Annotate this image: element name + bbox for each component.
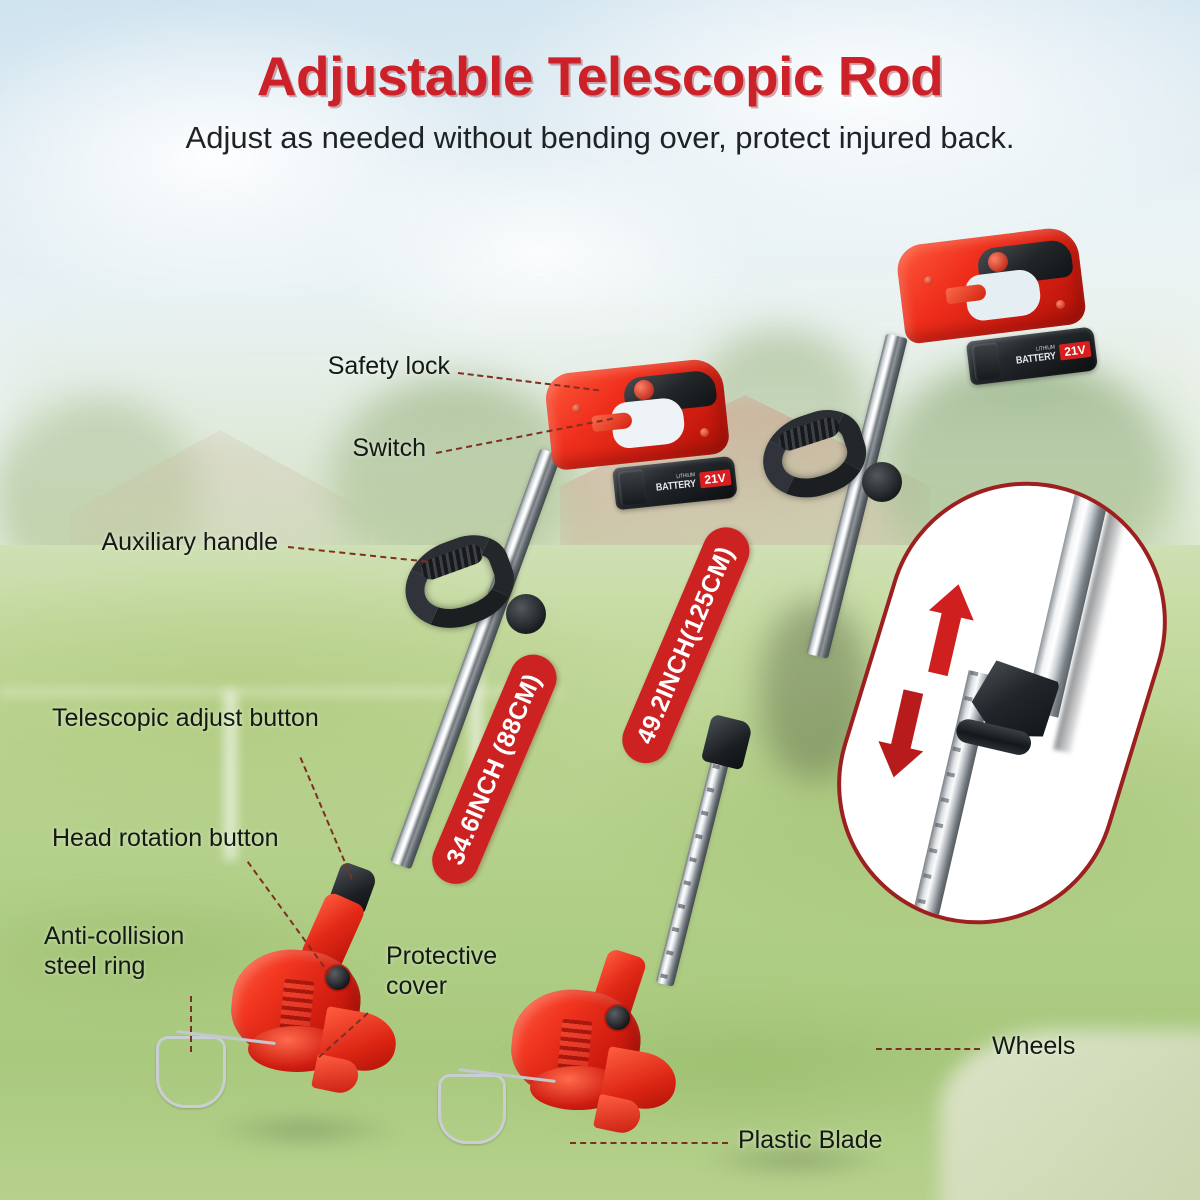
battery-label: LITHIUM BATTERY <box>1015 345 1057 366</box>
battery-label: LITHIUM BATTERY <box>655 473 697 493</box>
leader-wheels <box>876 1048 980 1050</box>
head-rotation-button[interactable] <box>326 966 350 990</box>
leader-plastic-blade <box>570 1142 728 1144</box>
callout-label-plastic-blade: Plastic Blade <box>738 1126 958 1156</box>
infographic-canvas: Adjustable Telescopic Rod Adjust as need… <box>0 0 1200 1200</box>
head-vent <box>557 1019 592 1072</box>
screw <box>572 404 581 413</box>
battery-voltage: 21V <box>699 469 732 488</box>
battery-rail <box>971 342 1001 381</box>
callout-label-auxiliary-handle: Auxiliary handle <box>52 528 278 558</box>
anti-collision-steel-ring <box>438 1074 506 1144</box>
screw <box>700 428 709 437</box>
screw <box>924 276 933 285</box>
battery-voltage: 21V <box>1058 341 1091 361</box>
callout-label-switch: Switch <box>240 434 426 464</box>
head-vent <box>279 979 314 1032</box>
down-arrow-icon <box>891 689 924 750</box>
page-subtitle: Adjust as needed without bending over, p… <box>0 120 1200 156</box>
battery-rail <box>618 469 647 506</box>
callout-label-wheels: Wheels <box>992 1032 1152 1062</box>
auxiliary-handle-clamp[interactable] <box>862 462 902 502</box>
up-arrow-icon <box>928 611 961 676</box>
page-title: Adjustable Telescopic Rod <box>0 44 1200 108</box>
callout-label-head-rotation-button: Head rotation button <box>52 824 352 854</box>
callout-label-protective-cover: Protective cover <box>386 942 566 1001</box>
product-shadow <box>210 1110 400 1150</box>
head-rotation-button[interactable] <box>606 1006 630 1030</box>
callout-label-safety-lock: Safety lock <box>240 352 450 382</box>
screw <box>1056 300 1065 309</box>
callout-label-telescopic-adjust-button: Telescopic adjust button <box>52 704 392 734</box>
callout-label-anti-collision-steel-ring: Anti-collision steel ring <box>44 922 274 981</box>
leader-anti-collision-steel-ring <box>190 996 192 1052</box>
auxiliary-handle-clamp[interactable] <box>506 594 546 634</box>
